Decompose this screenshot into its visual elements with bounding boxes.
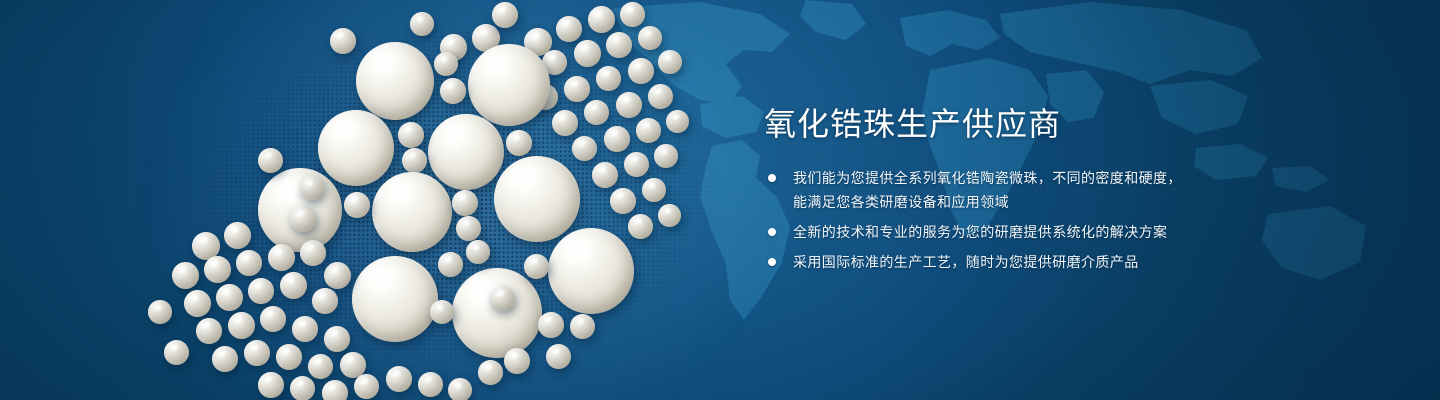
bead	[410, 12, 434, 36]
list-item-line: 采用国际标准的生产工艺，随时为您提供研磨介质产品	[793, 250, 1384, 274]
bead	[322, 380, 348, 400]
bead	[434, 52, 458, 76]
bead	[258, 148, 283, 173]
bead	[372, 172, 452, 252]
bead	[456, 216, 481, 241]
bead	[448, 378, 472, 400]
bead	[248, 278, 274, 304]
bead	[610, 188, 636, 214]
bead	[548, 228, 634, 314]
bead	[478, 360, 503, 385]
bullet-dot-icon	[768, 228, 776, 236]
bead	[228, 312, 255, 339]
banner-copy: 氧化锆珠生产供应商 我们能为您提供全系列氧化锆陶瓷微珠，不同的密度和硬度， 能满…	[764, 104, 1384, 274]
bead	[244, 340, 270, 366]
bead	[492, 2, 518, 28]
bead	[658, 204, 681, 227]
bead	[654, 144, 678, 168]
bead	[642, 178, 666, 202]
bead	[300, 176, 324, 200]
bead	[356, 42, 434, 120]
bead	[504, 348, 530, 374]
bead	[430, 300, 454, 324]
list-item: 采用国际标准的生产工艺，随时为您提供研磨介质产品	[768, 250, 1384, 274]
bead	[658, 50, 682, 74]
list-item: 我们能为您提供全系列氧化锆陶瓷微珠，不同的密度和硬度， 能满足您各类研磨设备和应…	[768, 166, 1384, 214]
bead	[506, 130, 532, 156]
bead	[290, 376, 315, 400]
bead	[588, 6, 615, 33]
bead	[564, 76, 590, 102]
bead	[572, 136, 597, 161]
bead	[616, 92, 642, 118]
bead	[552, 110, 578, 136]
list-item-line: 能满足您各类研磨设备和应用领域	[793, 190, 1384, 214]
bead	[440, 78, 466, 104]
bead	[312, 288, 338, 314]
bead	[466, 240, 490, 264]
bead	[638, 26, 662, 50]
bead	[574, 40, 601, 67]
bead	[224, 222, 251, 249]
list-item: 全新的技术和专业的服务为您的研磨提供系统化的解决方案	[768, 220, 1384, 244]
bead	[300, 240, 326, 266]
bead	[666, 110, 689, 133]
bead	[236, 250, 262, 276]
bullet-dot-icon	[768, 258, 776, 266]
bead	[268, 244, 295, 271]
bead	[636, 118, 661, 143]
bead	[468, 44, 550, 126]
bead	[556, 16, 582, 42]
bead	[538, 312, 564, 338]
bead	[402, 148, 427, 173]
bead	[184, 290, 211, 317]
bead	[318, 110, 394, 186]
bead	[276, 344, 302, 370]
bead	[260, 306, 286, 332]
bead	[148, 300, 172, 324]
bead	[290, 206, 316, 232]
bead	[292, 316, 318, 342]
page-title: 氧化锆珠生产供应商	[764, 104, 1384, 144]
bead	[418, 372, 443, 397]
bead	[216, 284, 243, 311]
bead	[628, 214, 653, 239]
bead	[204, 256, 231, 283]
bead	[570, 314, 595, 339]
bead	[280, 272, 307, 299]
bead	[330, 28, 356, 54]
bead	[494, 156, 580, 242]
bead	[452, 268, 542, 358]
bead	[308, 354, 333, 379]
list-item-line: 全新的技术和专业的服务为您的研磨提供系统化的解决方案	[793, 220, 1384, 244]
bead	[324, 262, 351, 289]
bead	[324, 326, 350, 352]
feature-list: 我们能为您提供全系列氧化锆陶瓷微珠，不同的密度和硬度， 能满足您各类研磨设备和应…	[768, 166, 1384, 274]
bead	[352, 256, 438, 342]
bead	[452, 190, 478, 216]
bead	[620, 2, 645, 27]
bullet-dot-icon	[768, 174, 776, 182]
bead	[584, 100, 609, 125]
bead	[546, 344, 571, 369]
bead	[606, 32, 632, 58]
bead	[524, 254, 549, 279]
bead	[604, 126, 630, 152]
bead	[164, 340, 189, 365]
bead	[172, 262, 199, 289]
list-item-line: 我们能为您提供全系列氧化锆陶瓷微珠，不同的密度和硬度，	[793, 166, 1384, 190]
bead	[344, 192, 370, 218]
bead	[628, 58, 654, 84]
bead	[354, 374, 379, 399]
bead	[624, 152, 649, 177]
bead	[428, 114, 504, 190]
bead	[596, 66, 621, 91]
bead	[196, 318, 222, 344]
bead	[258, 372, 284, 398]
bead	[592, 162, 618, 188]
bead	[648, 84, 673, 109]
hero-banner: 氧化锆珠生产供应商 我们能为您提供全系列氧化锆陶瓷微珠，不同的密度和硬度， 能满…	[0, 0, 1440, 400]
bead	[386, 366, 412, 392]
bead	[398, 122, 424, 148]
bead	[438, 252, 463, 277]
bead	[212, 346, 238, 372]
bead	[490, 286, 515, 311]
